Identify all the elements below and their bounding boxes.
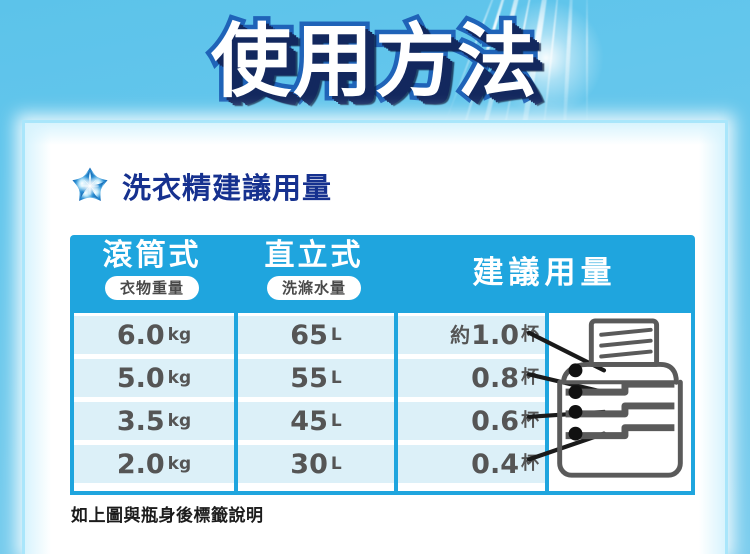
unit-weight: kg [168, 413, 191, 430]
unit-weight: kg [168, 456, 191, 473]
footnote-text: 如上圖與瓶身後標籤說明 [71, 501, 264, 526]
table-header-cell-vertical: 直立式 洗滌水量 [234, 235, 394, 313]
cell-water-volume: 45 L [238, 402, 394, 440]
table-header-row: 滾筒式 衣物重量 直立式 洗滌水量 建議用量 [70, 235, 695, 313]
cell-clothes-weight: 5.0 kg [74, 359, 234, 397]
value-dose: 0.4 [471, 451, 519, 478]
unit-dose: 杯 [521, 369, 539, 387]
table-row: 3.5 kg 45 L 0.6 杯 [74, 402, 691, 440]
banner-title-wrapper: 使用方法 [0, 18, 750, 106]
column-title-dose: 建議用量 [473, 256, 617, 292]
cell-water-volume: 30 L [238, 445, 394, 483]
cell-illustration-spacer [549, 359, 691, 397]
glow-burst-decoration [486, 0, 606, 118]
column-badge-water-volume: 洗滌水量 [267, 276, 361, 300]
unit-weight: kg [168, 370, 191, 387]
column-title-vertical: 直立式 [265, 239, 364, 274]
table-header-cell-dose: 建議用量 [394, 235, 695, 313]
value-dose: 0.6 [471, 408, 519, 435]
cell-clothes-weight: 6.0 kg [74, 316, 234, 354]
streak-line [586, 0, 588, 140]
table-row: 2.0 kg 30 L 0.4 杯 [74, 445, 691, 483]
table-row: 6.0 kg 65 L 約 1.0 杯 [74, 316, 691, 354]
unit-weight: kg [168, 327, 191, 344]
cell-illustration-spacer [549, 445, 691, 483]
sparkle-flower-icon [69, 165, 111, 207]
cell-dose: 約 1.0 杯 [398, 316, 545, 354]
cell-dose: 0.4 杯 [398, 445, 545, 483]
usage-instructions-page: 使用方法 [0, 0, 750, 554]
value-dose: 1.0 [471, 322, 519, 349]
value-weight: 2.0 [117, 451, 165, 478]
content-card-inner: 洗衣精建議用量 滾筒式 衣物重量 直立式 洗滌水量 建議用量 [25, 123, 725, 554]
value-water: 65 [290, 322, 328, 349]
dosage-table: 滾筒式 衣物重量 直立式 洗滌水量 建議用量 [70, 235, 695, 495]
table-row: 5.0 kg 55 L 0.8 杯 [74, 359, 691, 397]
unit-dose: 杯 [521, 412, 539, 430]
cell-clothes-weight: 3.5 kg [74, 402, 234, 440]
unit-water: L [331, 456, 342, 473]
unit-dose: 杯 [521, 455, 539, 473]
value-weight: 5.0 [117, 365, 165, 392]
cell-water-volume: 55 L [238, 359, 394, 397]
unit-water: L [331, 327, 342, 344]
value-water: 55 [290, 365, 328, 392]
value-water: 30 [290, 451, 328, 478]
value-weight: 3.5 [117, 408, 165, 435]
table-body: 6.0 kg 65 L 約 1.0 杯 [70, 313, 695, 495]
streak-line [444, 0, 507, 125]
value-water: 45 [290, 408, 328, 435]
column-title-drum: 滾筒式 [103, 239, 202, 274]
value-dose: 0.8 [471, 365, 519, 392]
value-weight: 6.0 [117, 322, 165, 349]
unit-dose: 杯 [521, 326, 539, 344]
content-card: 洗衣精建議用量 滾筒式 衣物重量 直立式 洗滌水量 建議用量 [22, 120, 728, 554]
section-heading-label: 洗衣精建議用量 [122, 165, 332, 207]
unit-water: L [331, 413, 342, 430]
cell-dose: 0.8 杯 [398, 359, 545, 397]
cell-illustration-spacer [549, 402, 691, 440]
cell-clothes-weight: 2.0 kg [74, 445, 234, 483]
cell-dose: 0.6 杯 [398, 402, 545, 440]
table-header-cell-drum: 滾筒式 衣物重量 [70, 235, 234, 313]
unit-water: L [331, 370, 342, 387]
page-title: 使用方法 [211, 18, 539, 106]
cell-water-volume: 65 L [238, 316, 394, 354]
cell-illustration-spacer [549, 316, 691, 354]
section-heading: 洗衣精建議用量 [69, 165, 332, 207]
column-badge-clothes-weight: 衣物重量 [105, 276, 199, 300]
dose-prefix: 約 [450, 325, 470, 345]
